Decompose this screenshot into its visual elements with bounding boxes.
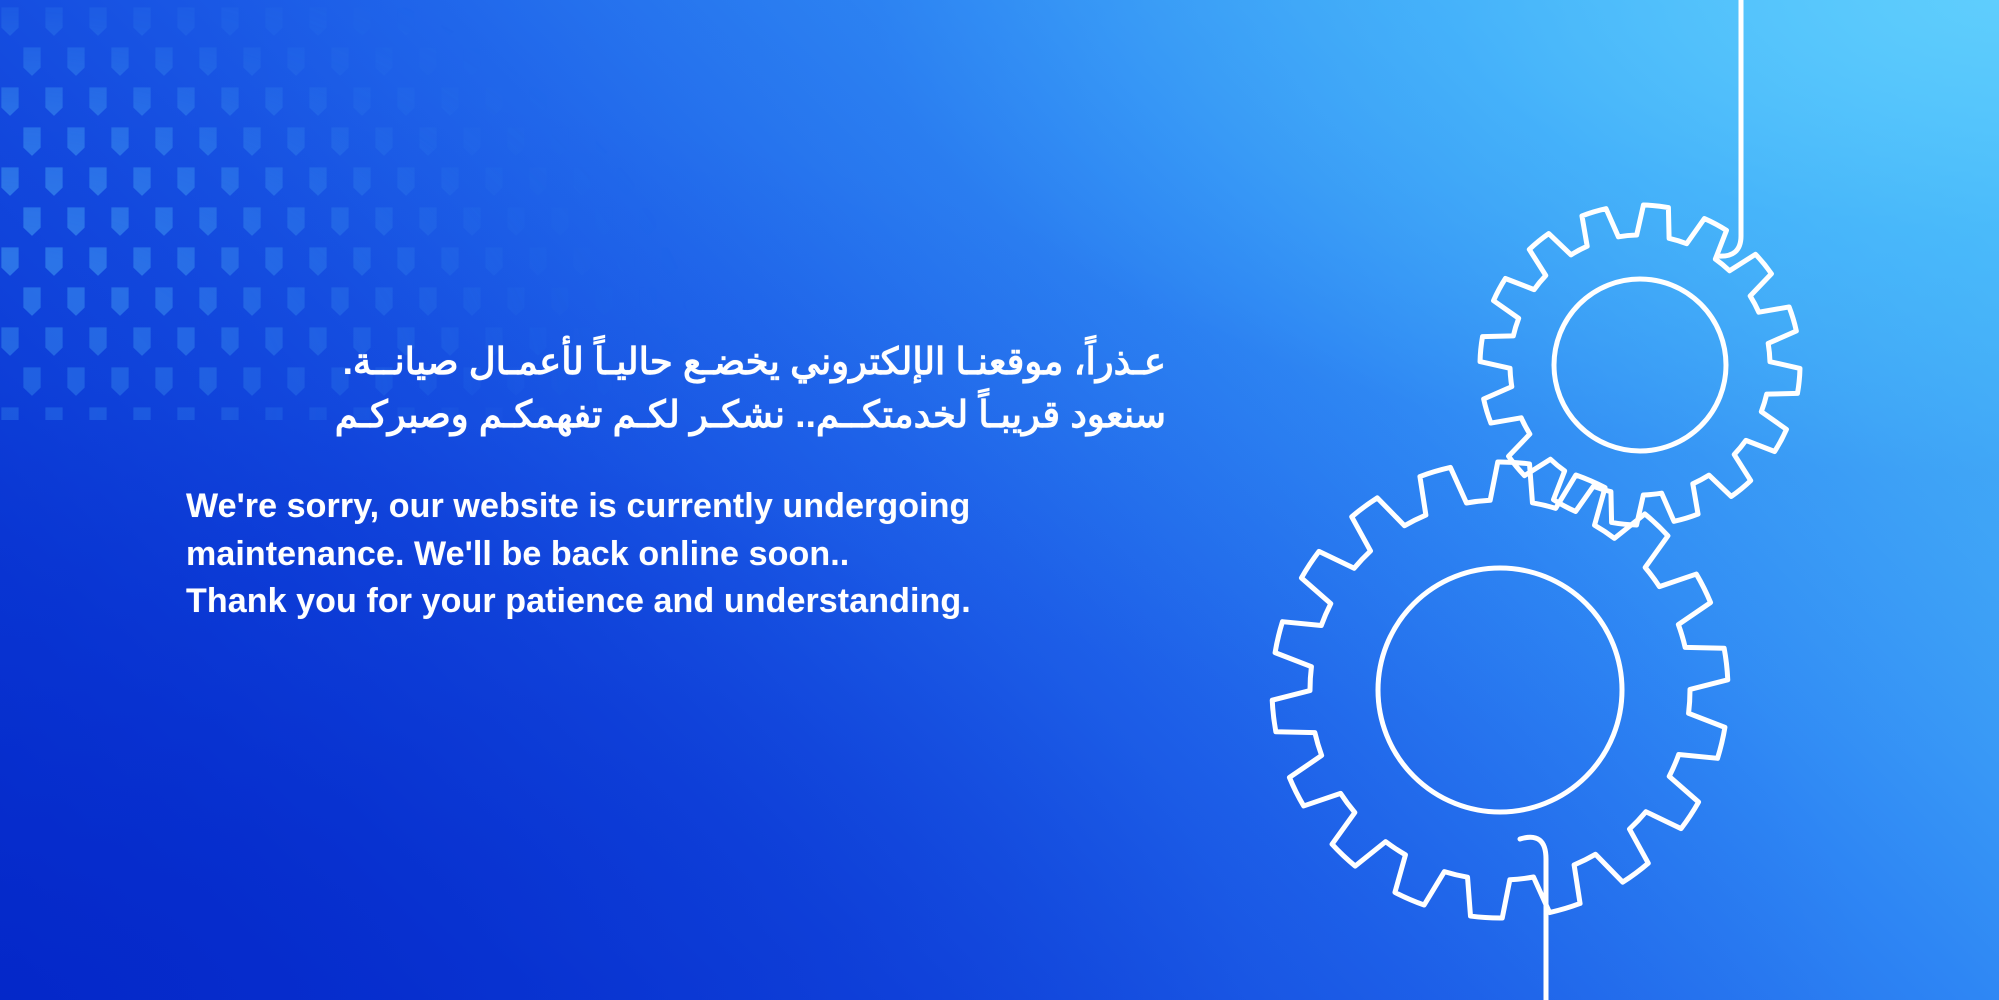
chevron-down-icon	[419, 47, 436, 76]
chevron-down-icon	[111, 287, 128, 316]
chevron-down-icon	[23, 287, 40, 316]
chevron-down-icon	[287, 127, 304, 156]
chevron-down-icon	[397, 7, 414, 36]
chevron-down-icon	[1, 407, 18, 420]
chevron-down-icon	[111, 207, 128, 236]
chevron-down-icon	[463, 127, 480, 156]
chevron-down-icon	[133, 87, 150, 116]
chevron-down-icon	[45, 87, 62, 116]
chevron-down-icon	[661, 87, 678, 116]
chevron-down-icon	[111, 367, 128, 396]
chevron-down-icon	[67, 207, 84, 236]
arabic-message: عـذراً، موقعنـا الإلكتروني يخضـع حاليـاً…	[186, 336, 1166, 441]
chevron-down-icon	[67, 367, 84, 396]
chevron-down-icon	[441, 247, 458, 276]
chevron-down-icon	[221, 167, 238, 196]
english-line-3: Thank you for your patience and understa…	[186, 578, 1166, 626]
chevron-down-icon	[507, 287, 524, 316]
chevron-down-icon	[683, 127, 700, 156]
chevron-down-icon	[45, 167, 62, 196]
chevron-down-icon	[617, 7, 634, 36]
chevron-down-icon	[1, 327, 18, 356]
chevron-down-icon	[45, 407, 62, 420]
chevron-down-icon	[595, 47, 612, 76]
chevron-down-icon	[177, 7, 194, 36]
chevron-down-icon	[265, 247, 282, 276]
chevron-down-icon	[661, 247, 678, 276]
chevron-down-icon	[1, 7, 18, 36]
chevron-down-icon	[705, 87, 722, 116]
chevron-down-icon	[573, 87, 590, 116]
chevron-down-icon	[287, 287, 304, 316]
chevron-down-icon	[133, 327, 150, 356]
chevron-down-icon	[375, 127, 392, 156]
chevron-down-icon	[617, 87, 634, 116]
chevron-down-icon	[331, 127, 348, 156]
chevron-down-icon	[155, 207, 172, 236]
chevron-down-icon	[89, 247, 106, 276]
chevron-down-icon	[595, 287, 612, 316]
chevron-down-icon	[155, 127, 172, 156]
chevron-down-icon	[639, 127, 656, 156]
chevron-down-icon	[353, 7, 370, 36]
chevron-down-icon	[243, 127, 260, 156]
chevron-down-icon	[639, 287, 656, 316]
chevron-down-icon	[67, 127, 84, 156]
chevron-down-icon	[89, 407, 106, 420]
english-line-2: maintenance. We'll be back online soon..	[186, 531, 1166, 579]
chevron-down-icon	[111, 127, 128, 156]
chevron-down-icon	[45, 327, 62, 356]
chevron-down-icon	[199, 207, 216, 236]
chevron-down-icon	[639, 47, 656, 76]
chevron-down-icon	[705, 247, 722, 276]
chevron-down-icon	[89, 327, 106, 356]
chevron-down-icon	[155, 47, 172, 76]
chevron-down-icon	[683, 47, 700, 76]
chevron-down-icon	[595, 207, 612, 236]
chevron-down-icon	[573, 167, 590, 196]
chevron-down-icon	[287, 207, 304, 236]
chevron-down-icon	[1, 87, 18, 116]
chevron-down-icon	[309, 87, 326, 116]
chevron-down-icon	[463, 207, 480, 236]
chevron-down-icon	[155, 367, 172, 396]
chevron-down-icon	[551, 207, 568, 236]
chevron-down-icon	[23, 367, 40, 396]
chevron-down-icon	[309, 7, 326, 36]
chevron-down-icon	[155, 287, 172, 316]
chevron-down-icon	[595, 127, 612, 156]
chevron-down-icon	[353, 167, 370, 196]
chevron-down-icon	[397, 87, 414, 116]
chevron-down-icon	[45, 247, 62, 276]
english-message: We're sorry, our website is currently un…	[186, 483, 1166, 626]
chevron-down-icon	[551, 47, 568, 76]
chevron-down-icon	[23, 207, 40, 236]
chevron-down-icon	[353, 247, 370, 276]
chevron-down-icon	[617, 247, 634, 276]
chevron-down-icon	[353, 87, 370, 116]
chevron-down-icon	[419, 127, 436, 156]
chevron-down-icon	[1, 167, 18, 196]
chevron-down-icon	[573, 247, 590, 276]
chevron-down-icon	[441, 7, 458, 36]
chevron-down-icon	[529, 87, 546, 116]
chevron-down-icon	[177, 167, 194, 196]
chevron-down-icon	[661, 7, 678, 36]
chevron-down-icon	[243, 47, 260, 76]
chevron-down-icon	[89, 7, 106, 36]
chevron-down-icon	[23, 127, 40, 156]
chevron-down-icon	[661, 167, 678, 196]
chevron-down-icon	[639, 207, 656, 236]
chevron-down-icon	[265, 167, 282, 196]
chevron-down-icon	[419, 287, 436, 316]
chevron-down-icon	[331, 47, 348, 76]
chevron-down-icon	[529, 247, 546, 276]
arabic-line-1: عـذراً، موقعنـا الإلكتروني يخضـع حاليـاً…	[186, 336, 1166, 389]
chevron-down-icon	[441, 87, 458, 116]
chevron-down-icon	[507, 127, 524, 156]
chevron-down-icon	[485, 247, 502, 276]
chevron-down-icon	[1, 247, 18, 276]
chevron-down-icon	[221, 7, 238, 36]
chevron-down-icon	[265, 87, 282, 116]
chevron-down-icon	[485, 7, 502, 36]
chevron-down-icon	[23, 47, 40, 76]
chevron-down-icon	[463, 287, 480, 316]
chevron-down-icon	[309, 247, 326, 276]
chevron-down-icon	[265, 7, 282, 36]
chevron-down-icon	[705, 7, 722, 36]
chevron-down-icon	[243, 207, 260, 236]
chevron-down-icon	[375, 47, 392, 76]
chevron-down-icon	[243, 287, 260, 316]
chevron-down-icon	[529, 7, 546, 36]
chevron-down-icon	[133, 407, 150, 420]
chevron-down-icon	[177, 247, 194, 276]
chevron-down-icon	[199, 127, 216, 156]
chevron-down-icon	[485, 167, 502, 196]
chevron-down-icon	[507, 47, 524, 76]
chevron-down-icon	[419, 207, 436, 236]
chevron-down-icon	[67, 47, 84, 76]
chevron-down-icon	[683, 287, 700, 316]
chevron-down-icon	[67, 287, 84, 316]
chevron-down-icon	[485, 87, 502, 116]
chevron-down-icon	[89, 167, 106, 196]
chevron-down-icon	[309, 167, 326, 196]
chevron-down-icon	[45, 7, 62, 36]
chevron-down-icon	[573, 7, 590, 36]
chevron-down-icon	[177, 87, 194, 116]
chevron-down-icon	[133, 247, 150, 276]
chevron-down-icon	[617, 167, 634, 196]
chevron-down-icon	[133, 167, 150, 196]
chevron-down-icon	[199, 47, 216, 76]
chevron-down-icon	[89, 87, 106, 116]
chevron-down-icon	[221, 87, 238, 116]
chevron-down-icon	[375, 207, 392, 236]
chevron-down-icon	[529, 167, 546, 196]
chevron-down-icon	[331, 207, 348, 236]
chevron-down-icon	[287, 47, 304, 76]
chevron-down-icon	[375, 287, 392, 316]
chevron-down-icon	[551, 287, 568, 316]
chevron-down-icon	[331, 287, 348, 316]
chevron-down-icon	[463, 47, 480, 76]
chevron-down-icon	[507, 207, 524, 236]
maintenance-page: عـذراً، موقعنـا الإلكتروني يخضـع حاليـاً…	[0, 0, 1999, 1000]
chevron-down-icon	[397, 247, 414, 276]
chevron-down-icon	[221, 247, 238, 276]
english-line-1: We're sorry, our website is currently un…	[186, 483, 1166, 531]
chevron-down-icon	[551, 127, 568, 156]
arabic-line-2: سنعود قريبـاً لخدمتكــم.. نشكـر لكـم تفه…	[186, 389, 1166, 442]
chevron-down-icon	[111, 47, 128, 76]
chevron-down-icon	[133, 7, 150, 36]
message-block: عـذراً، موقعنـا الإلكتروني يخضـع حاليـاً…	[186, 336, 1166, 626]
chevron-down-icon	[397, 167, 414, 196]
chevron-down-icon	[683, 207, 700, 236]
chevron-down-icon	[705, 167, 722, 196]
chevron-down-icon	[441, 167, 458, 196]
chevron-down-icon	[199, 287, 216, 316]
